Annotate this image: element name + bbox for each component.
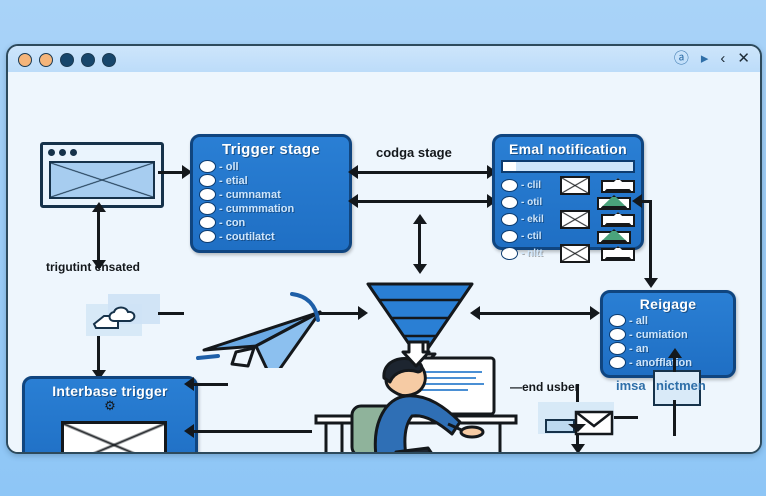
bullet-icon xyxy=(199,216,216,229)
folder-icon xyxy=(601,178,631,193)
incoming-arrow-icon xyxy=(400,340,432,368)
window-dot-4[interactable] xyxy=(81,53,95,67)
arrowhead-funnel-left xyxy=(470,306,480,320)
window-dots xyxy=(18,53,116,67)
caption-nictmen: nictmen xyxy=(656,378,706,393)
winicon-dots xyxy=(48,149,77,156)
progress-bar xyxy=(501,160,635,173)
arrowhead-trigger-email-top-left xyxy=(348,165,358,179)
folder-icon xyxy=(601,212,631,227)
caption-imsa: imsa xyxy=(616,378,646,393)
connector-into-funnel xyxy=(418,220,421,268)
connector-nictmen-bottom xyxy=(673,400,676,436)
arrowhead-reigage-down xyxy=(644,278,658,288)
window-dot-1[interactable] xyxy=(18,53,32,67)
diagram-canvas: Trigger stage - oll - etial - cumnamat xyxy=(8,72,760,452)
arrowhead-trigger-email-bottom-left xyxy=(348,194,358,208)
bullet-icon xyxy=(199,230,216,243)
connector-inbox-down xyxy=(97,210,100,262)
connector-trigger-email-top xyxy=(357,171,489,174)
envelope-icon xyxy=(560,176,590,195)
caption-codga-stage: codga stage xyxy=(376,145,452,160)
bullet-icon xyxy=(501,179,518,192)
bullet-icon xyxy=(609,342,626,355)
connector-enduser-top xyxy=(576,384,579,402)
list-item[interactable]: - cumnamat xyxy=(199,188,343,201)
bullet-icon xyxy=(501,230,518,243)
connector-cloud-down xyxy=(97,336,100,374)
folder-green-icon xyxy=(597,195,627,210)
connector-trigger-email-bottom xyxy=(357,200,489,203)
browser-window: ⓐ ▸ ‹ ✕ Trigger stage xyxy=(6,44,762,454)
connector-interbase-mid-right xyxy=(192,430,312,433)
caption-trigutint-ensated: trigutint ensated xyxy=(46,260,140,274)
node-email-notification-rows: - clil - otil - ekil xyxy=(501,176,635,263)
list-item[interactable]: - otil xyxy=(501,195,635,210)
connector-email-to-reigage xyxy=(649,200,652,282)
connector-cloud-right xyxy=(158,312,184,315)
bullet-icon xyxy=(609,356,626,369)
envelope-icon xyxy=(49,161,155,199)
node-interbase-trigger-title: Interbase trigger xyxy=(25,383,195,399)
node-trigger-stage-title: Trigger stage xyxy=(193,141,349,158)
arrowhead-plane-to-funnel xyxy=(358,306,368,320)
arrowhead-reigage-right xyxy=(590,306,600,320)
arrowhead-email-right xyxy=(632,194,642,208)
bullet-icon xyxy=(199,174,216,187)
arrowhead-interbase-mid xyxy=(184,424,194,438)
bullet-icon xyxy=(199,202,216,215)
arrowhead-enduser-down xyxy=(571,444,585,454)
arrowhead-into-funnel xyxy=(413,264,427,274)
list-item[interactable]: - ctil xyxy=(501,229,635,244)
big-envelope-icon xyxy=(61,421,167,454)
node-trigger-stage-rows: - oll - etial - cumnamat - cummmation xyxy=(199,160,343,243)
list-item[interactable]: - cumiation xyxy=(609,328,727,341)
cloud-envelope-icon xyxy=(88,298,158,338)
window-titlebar: ⓐ ▸ ‹ ✕ xyxy=(8,46,760,74)
window-dot-5[interactable] xyxy=(102,53,116,67)
bullet-icon xyxy=(609,328,626,341)
list-item[interactable]: - all xyxy=(609,314,727,327)
window-controls: ⓐ ▸ ‹ ✕ xyxy=(674,49,750,69)
spacer xyxy=(560,195,586,210)
chevron-left-icon[interactable]: ‹ xyxy=(720,49,725,69)
node-email-notification-title: Emal notification xyxy=(495,141,641,157)
window-dot-2[interactable] xyxy=(39,53,53,67)
node-trigger-stage[interactable]: Trigger stage - oll - etial - cumnamat xyxy=(190,134,352,253)
gear-icon[interactable]: ⚙ xyxy=(25,401,195,411)
node-email-notification[interactable]: Emal notification - clil - otil xyxy=(492,134,644,250)
mail-out-icon xyxy=(540,398,620,438)
list-item[interactable]: - coutilatct xyxy=(199,230,343,243)
list-item[interactable]: - con xyxy=(199,216,343,229)
play-triangle-icon[interactable]: ▸ xyxy=(701,49,709,69)
envelope-icon xyxy=(560,210,590,229)
connector-interbase-top-right xyxy=(192,383,228,386)
arrowhead-interbase-top xyxy=(184,377,194,391)
node-interbase-trigger[interactable]: Interbase trigger ⚙ xyxy=(22,376,198,454)
envelope-icon xyxy=(560,244,590,263)
at-swirl-icon[interactable]: ⓐ xyxy=(674,49,689,69)
bullet-icon xyxy=(501,196,518,209)
folder-icon xyxy=(601,246,631,261)
bullet-icon xyxy=(501,213,518,226)
list-item[interactable]: - cummmation xyxy=(199,202,343,215)
folder-green-icon xyxy=(597,229,627,244)
list-item[interactable]: - etial xyxy=(199,174,343,187)
arrowhead-nictmen-up xyxy=(668,348,682,358)
window-dot-3[interactable] xyxy=(60,53,74,67)
node-reigage-title: Reigage xyxy=(603,296,733,312)
list-item[interactable]: - oll xyxy=(199,160,343,173)
connector-funnel-to-reigage xyxy=(478,312,596,315)
list-item[interactable]: - ekil xyxy=(501,210,635,229)
connector-enduser-right xyxy=(614,416,638,419)
bullet-icon xyxy=(609,314,626,327)
close-x-icon[interactable]: ✕ xyxy=(737,49,750,69)
arrowhead-inbox-up xyxy=(92,202,106,212)
list-item[interactable]: - nltt xyxy=(501,244,635,263)
list-item[interactable]: - clil xyxy=(501,176,635,195)
node-reigage[interactable]: Reigage - all - cumiation - an xyxy=(600,290,736,378)
spacer xyxy=(560,229,586,244)
caption-end-usber: —end usber xyxy=(510,380,579,394)
bullet-icon xyxy=(501,247,518,260)
node-reigage-rows: - all - cumiation - an - anofflation xyxy=(609,314,727,369)
bullet-icon xyxy=(199,160,216,173)
inbox-window-icon[interactable] xyxy=(40,142,164,208)
screenshot-root: ⓐ ▸ ‹ ✕ Trigger stage xyxy=(0,0,766,496)
arrowhead-funnel-up xyxy=(413,214,427,224)
bullet-icon xyxy=(199,188,216,201)
